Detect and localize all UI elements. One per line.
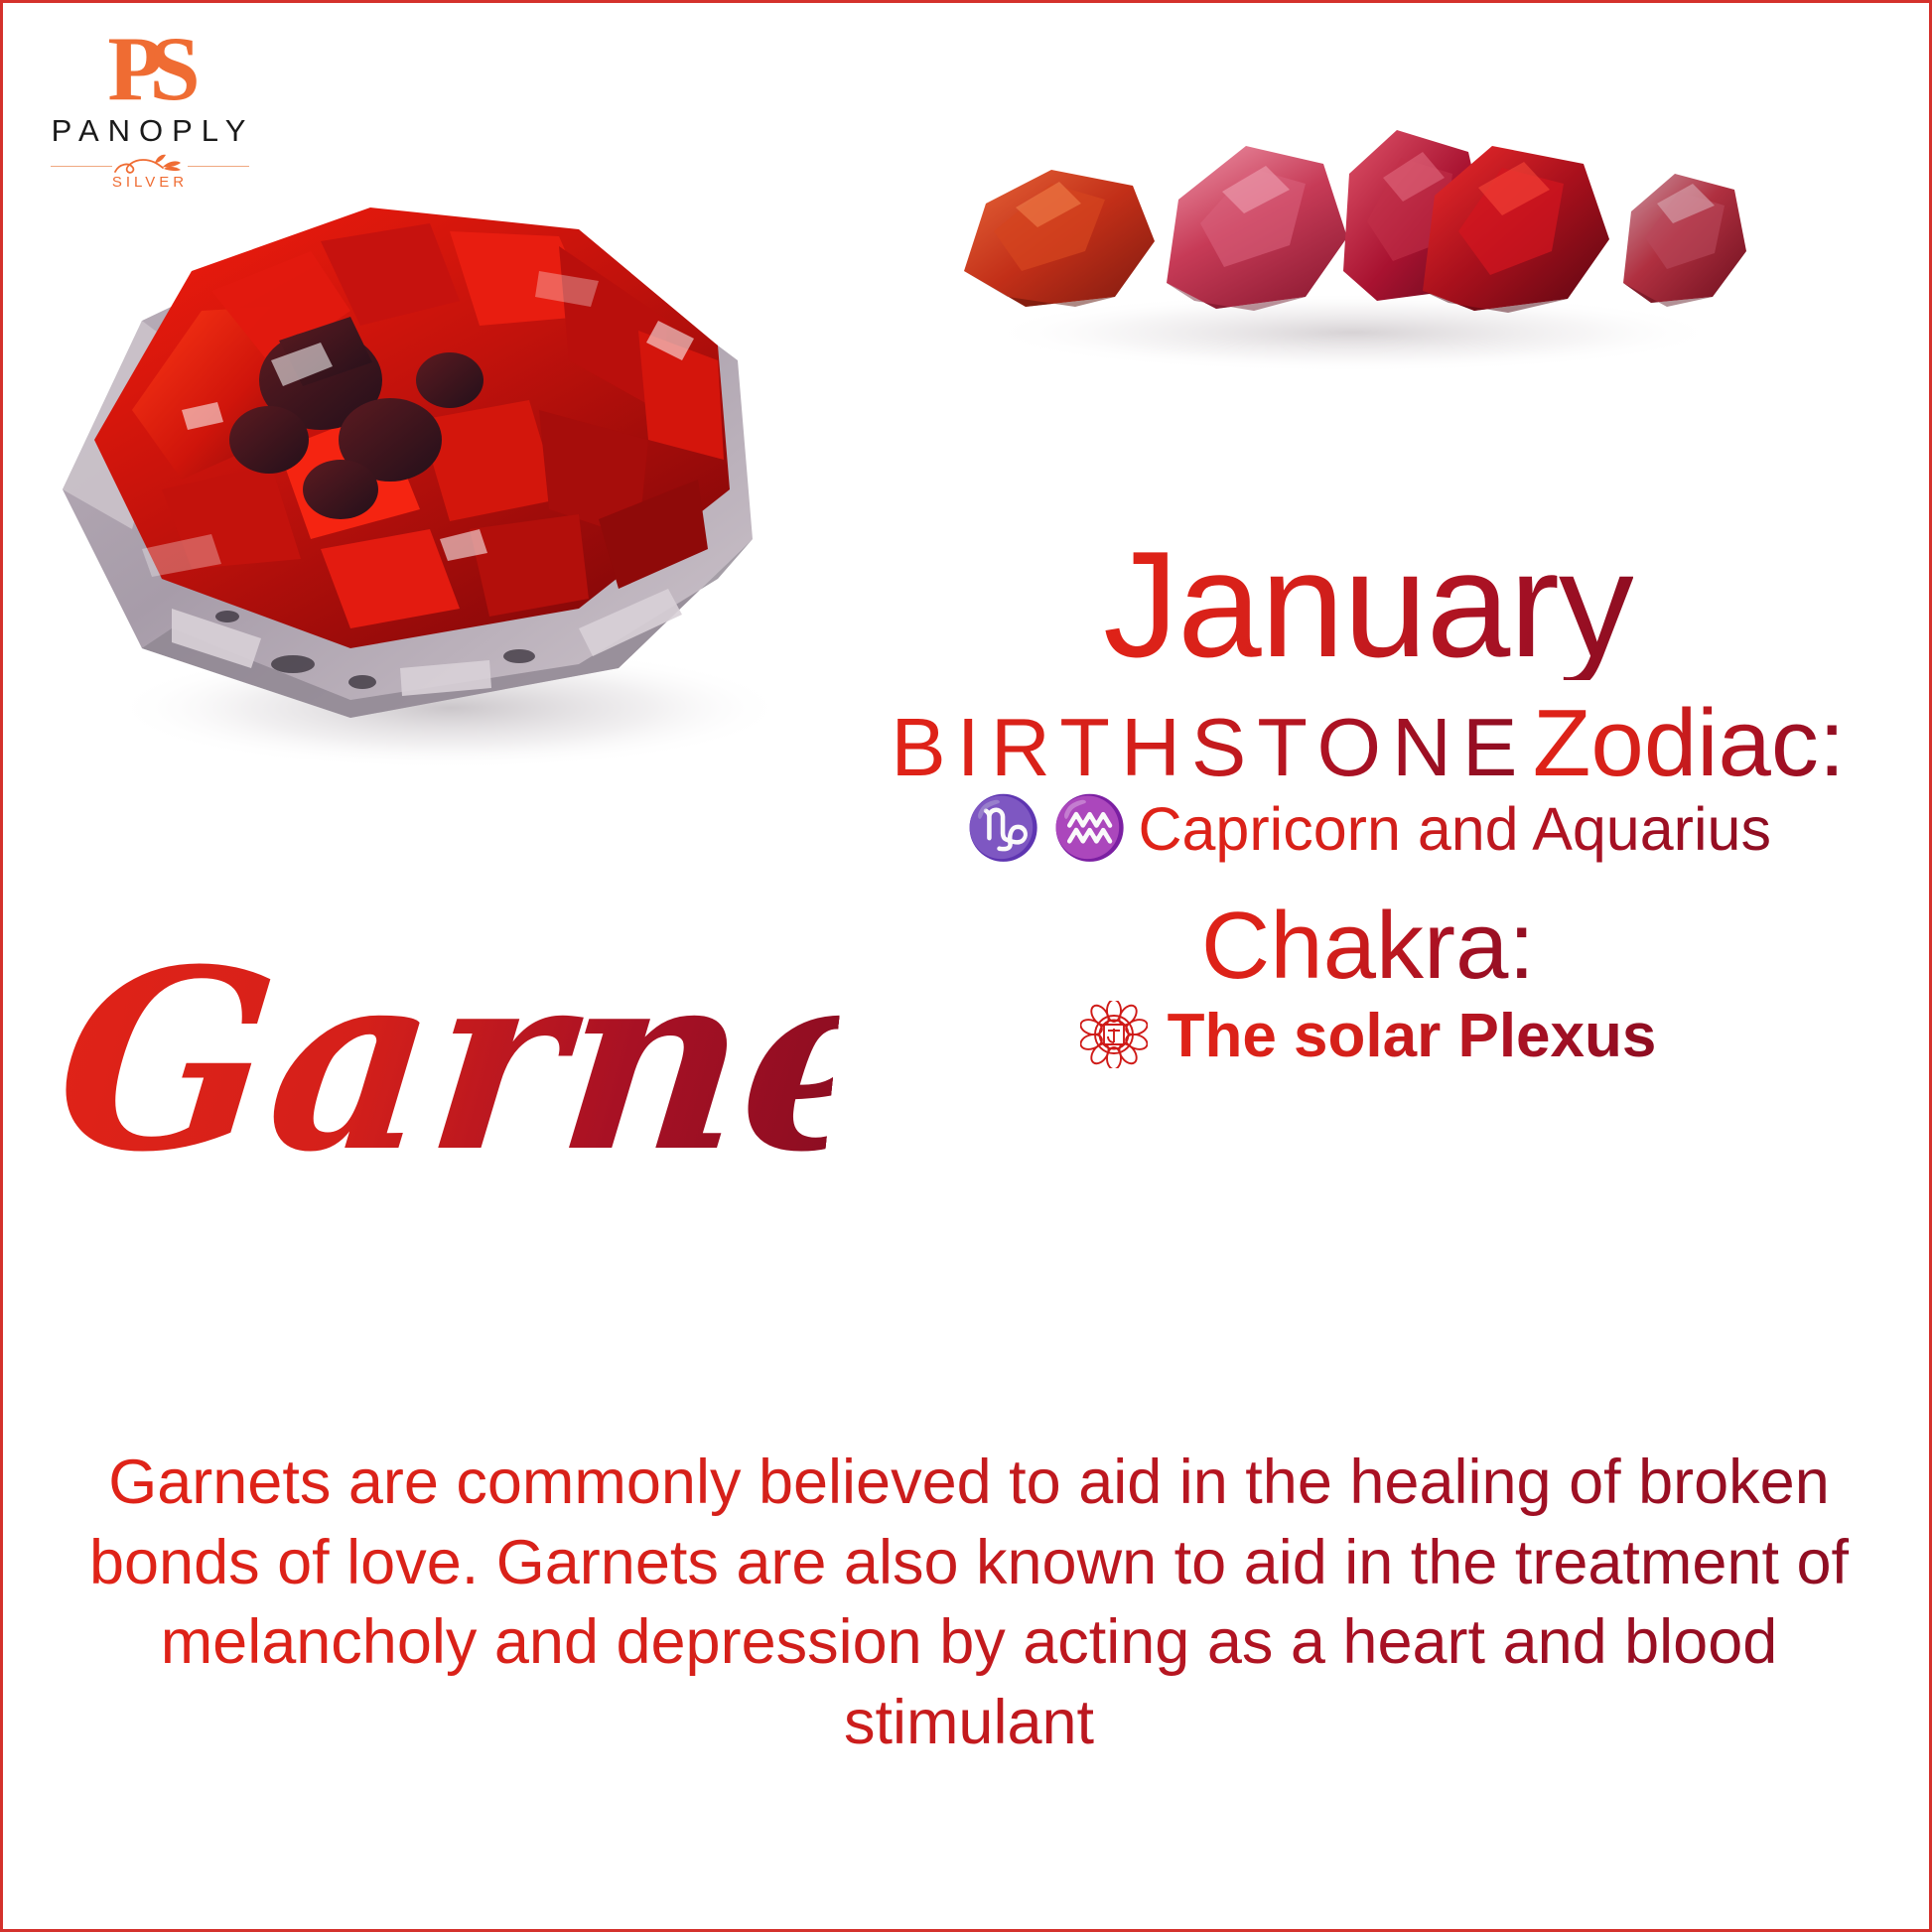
poster-canvas: PS PANOPLY SILVER bbox=[0, 0, 1932, 1932]
zodiac-row: ♑ ♒ Capricorn and Aquarius bbox=[837, 796, 1899, 863]
logo-divider bbox=[41, 155, 259, 175]
leaf-sprig-icon bbox=[107, 151, 193, 184]
chakra-label: Chakra: bbox=[1201, 897, 1535, 997]
solar-plexus-chakra-icon bbox=[1080, 1001, 1148, 1073]
capricorn-icon: ♑ bbox=[965, 798, 1041, 860]
stone-description: Garnets are commonly believed to aid in … bbox=[82, 1443, 1856, 1763]
rough-garnet-stones-photo bbox=[956, 112, 1750, 370]
divider-rule-left bbox=[51, 166, 112, 168]
aquarius-icon: ♒ bbox=[1051, 798, 1128, 860]
zodiac-label: Zodiac: bbox=[1533, 694, 1846, 794]
garnet-crystal-cluster-photo bbox=[23, 112, 827, 797]
month-title: January bbox=[1103, 529, 1633, 680]
brand-name: PANOPLY bbox=[47, 113, 259, 149]
divider-rule-right bbox=[188, 166, 249, 168]
panoply-monogram-icon: PS bbox=[35, 27, 259, 111]
chakra-value: The solar Plexus bbox=[1168, 1003, 1657, 1070]
brand-logo[interactable]: PS PANOPLY SILVER bbox=[41, 27, 259, 191]
birthstone-subtitle: BIRTHSTONE bbox=[891, 704, 1528, 790]
stone-name-title: Garnet bbox=[48, 936, 848, 1184]
zodiac-signs-value: Capricorn and Aquarius bbox=[1138, 796, 1771, 863]
